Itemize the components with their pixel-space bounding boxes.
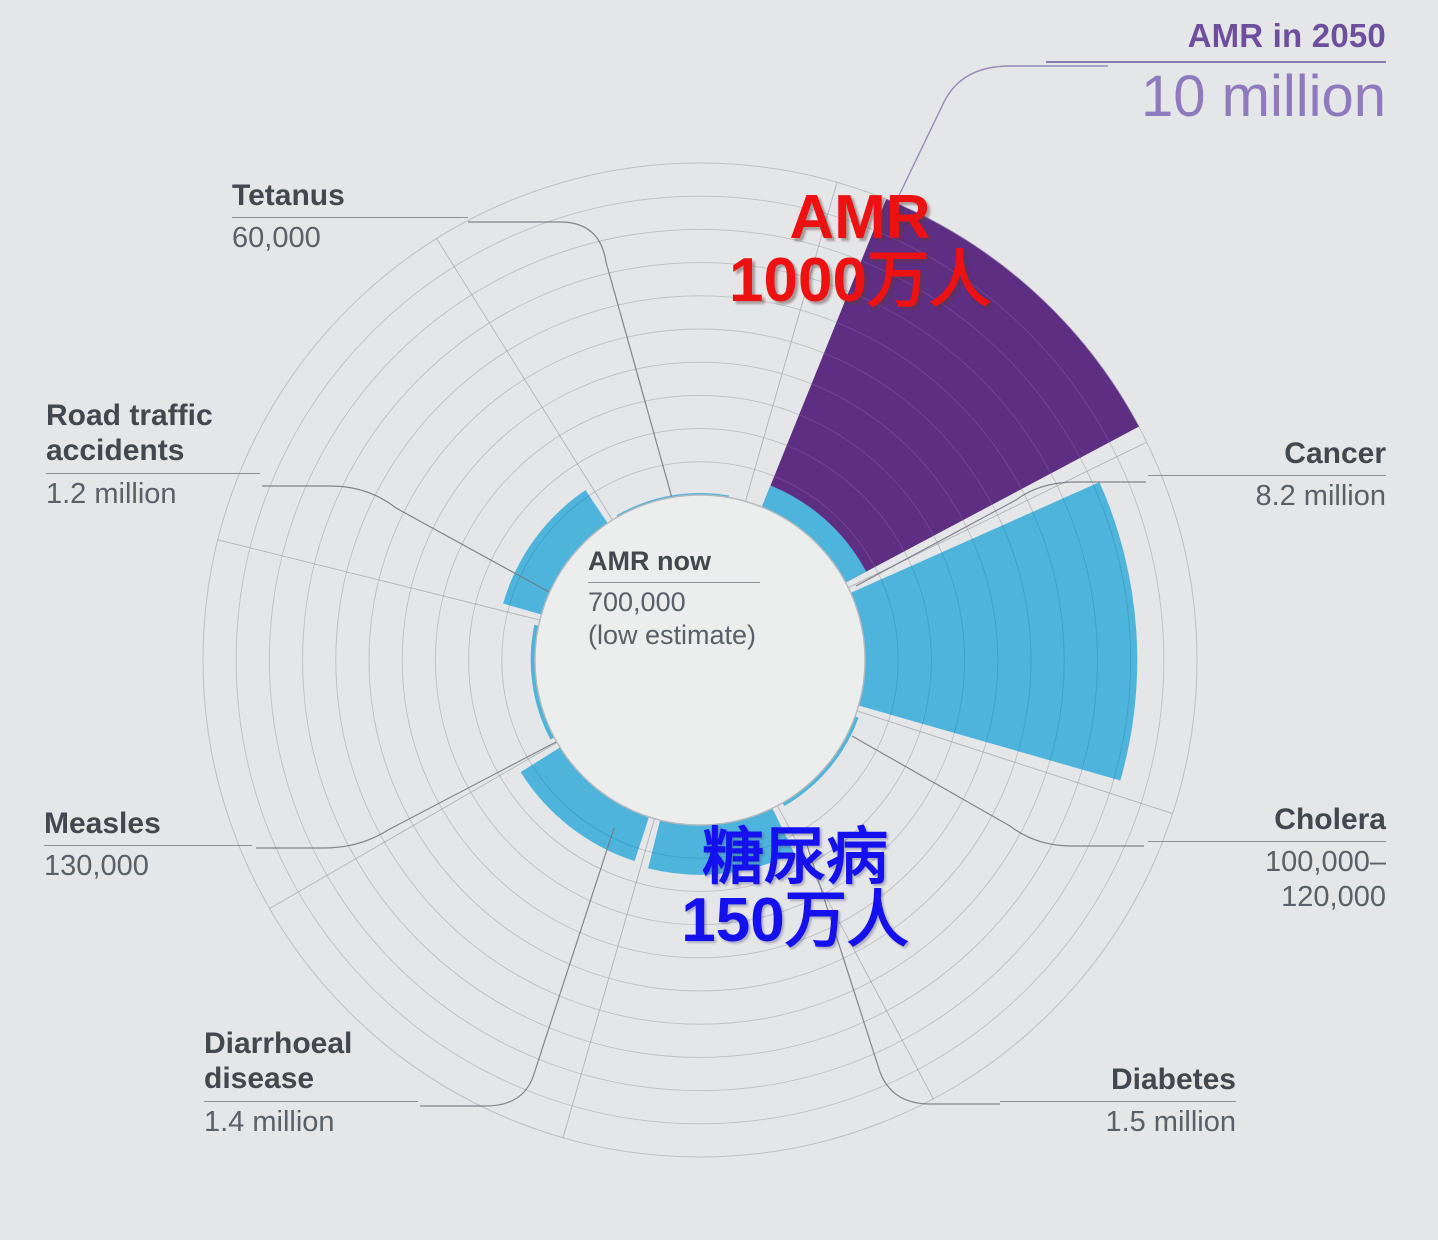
chart-label-value: 8.2 million xyxy=(1148,479,1386,513)
chart-label-name: Cholera xyxy=(1148,802,1386,837)
center-value: 700,000 (low estimate) xyxy=(588,586,820,654)
chart-label-rule xyxy=(1000,1101,1236,1102)
headline-rule xyxy=(1046,61,1386,63)
center-title: AMR now xyxy=(588,547,820,577)
chart-label-measles: Measles 130,000 xyxy=(44,806,252,884)
chart-label-road-traffic-accidents: Road traffic accidents 1.2 million xyxy=(46,398,260,511)
chart-label-name: Diarrhoeal disease xyxy=(204,1026,418,1097)
chart-label-value: 1.5 million xyxy=(1000,1105,1236,1139)
chart-label-diarrhoeal-disease: Diarrhoeal disease 1.4 million xyxy=(204,1026,418,1139)
leader-line-measles xyxy=(256,742,556,848)
chart-label-name: Tetanus xyxy=(232,178,468,213)
chart-label-tetanus: Tetanus 60,000 xyxy=(232,178,468,256)
chart-label-rule xyxy=(1148,475,1386,476)
gridline-spoke xyxy=(218,540,540,620)
infographic-canvas: AMR in 2050 10 million AMR now 700,000 (… xyxy=(0,0,1438,1240)
headline-title: AMR in 2050 xyxy=(1046,18,1386,55)
chart-label-name: Road traffic accidents xyxy=(46,398,260,469)
chart-label-value: 100,000– 120,000 xyxy=(1148,845,1386,913)
chart-label-value: 60,000 xyxy=(232,221,468,255)
gridline-spoke xyxy=(437,239,613,521)
annotation-diabetes-overlay: 糖尿病 150万人 xyxy=(630,826,960,952)
chart-label-cholera: Cholera 100,000– 120,000 xyxy=(1148,802,1386,914)
center-callout: AMR now 700,000 (low estimate) xyxy=(588,547,820,653)
chart-label-rule xyxy=(1148,841,1386,842)
chart-label-value: 130,000 xyxy=(44,849,252,883)
chart-label-rule xyxy=(44,845,252,846)
headline-callout: AMR in 2050 10 million xyxy=(1046,18,1386,130)
chart-label-name: Measles xyxy=(44,806,252,841)
chart-label-name: Diabetes xyxy=(1000,1062,1236,1097)
chart-label-cancer: Cancer 8.2 million xyxy=(1148,436,1386,514)
chart-label-value: 1.4 million xyxy=(204,1105,418,1139)
chart-label-diabetes: Diabetes 1.5 million xyxy=(1000,1062,1236,1140)
leader-line-tetanus xyxy=(468,222,672,498)
chart-label-value: 1.2 million xyxy=(46,477,260,511)
headline-value: 10 million xyxy=(1046,65,1386,130)
chart-label-rule xyxy=(232,217,468,218)
annotation-amr-overlay: AMR 1000万人 xyxy=(700,186,1020,312)
gridline-spoke xyxy=(270,743,558,909)
center-rule xyxy=(588,582,760,583)
center-disc xyxy=(535,495,865,825)
chart-label-name: Cancer xyxy=(1148,436,1386,471)
leader-line-diarrhoeal-disease xyxy=(420,828,614,1106)
chart-label-rule xyxy=(204,1101,418,1102)
chart-label-rule xyxy=(46,473,260,474)
